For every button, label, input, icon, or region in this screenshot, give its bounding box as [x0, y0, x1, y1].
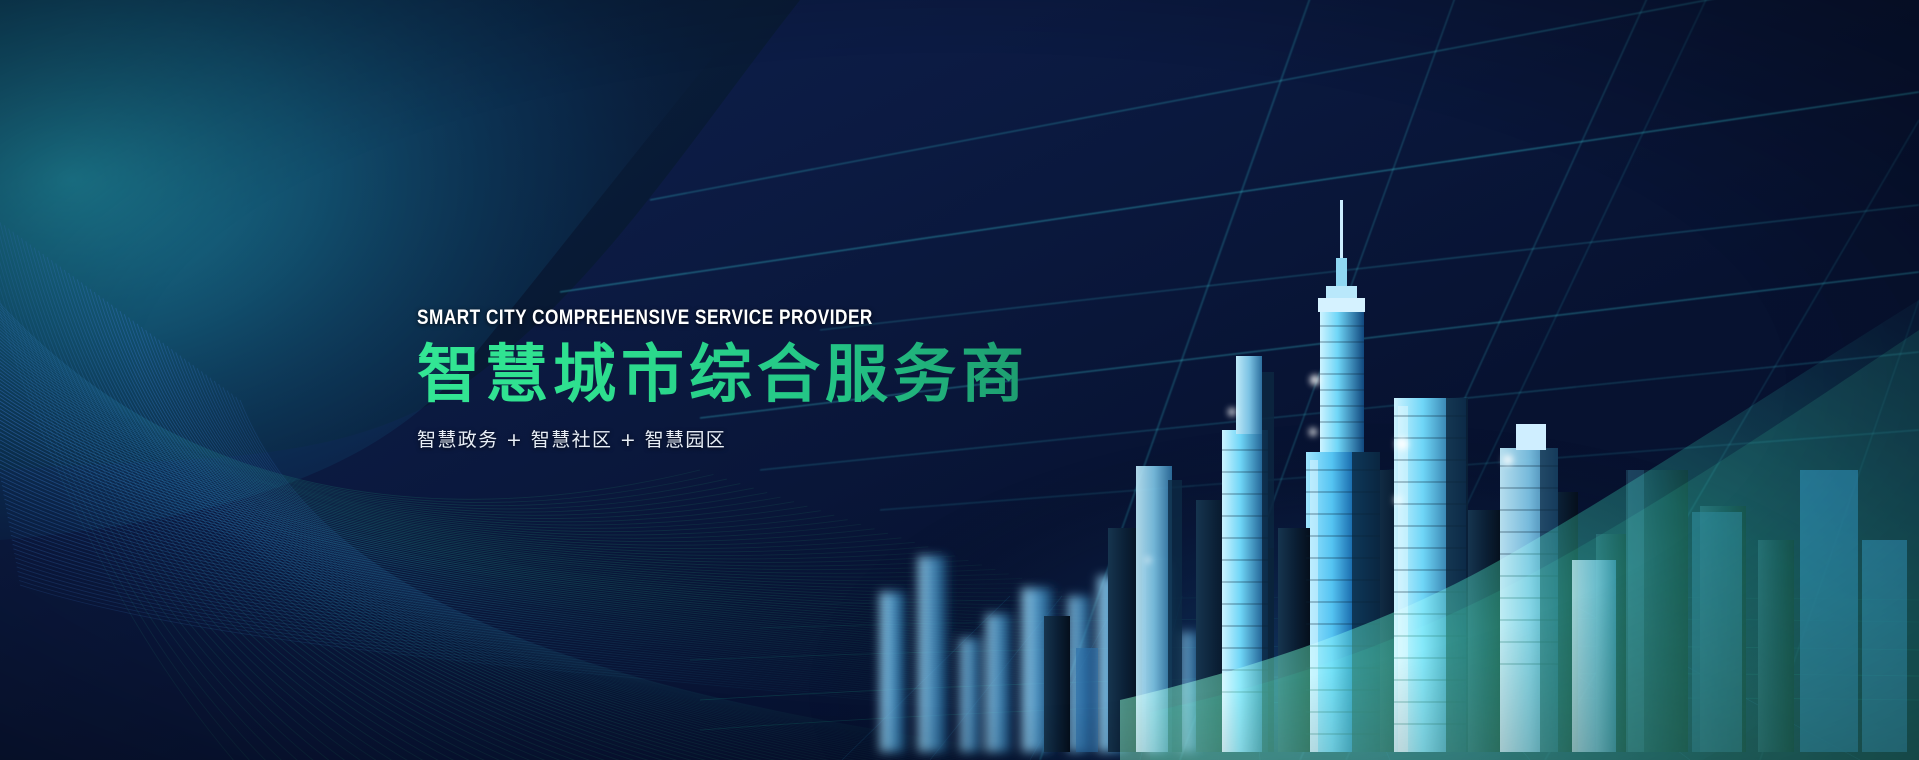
hero-eyebrow: SMART CITY COMPREHENSIVE SERVICE PROVIDE… [417, 307, 1040, 328]
hero-headline: 智慧城市综合服务商 [417, 340, 1177, 411]
hero-banner: SMART CITY COMPREHENSIVE SERVICE PROVIDE… [0, 0, 1919, 760]
hero-subline: 智慧政务 + 智慧社区 + 智慧园区 [417, 425, 1177, 452]
hero-copy: SMART CITY COMPREHENSIVE SERVICE PROVIDE… [417, 307, 1177, 452]
